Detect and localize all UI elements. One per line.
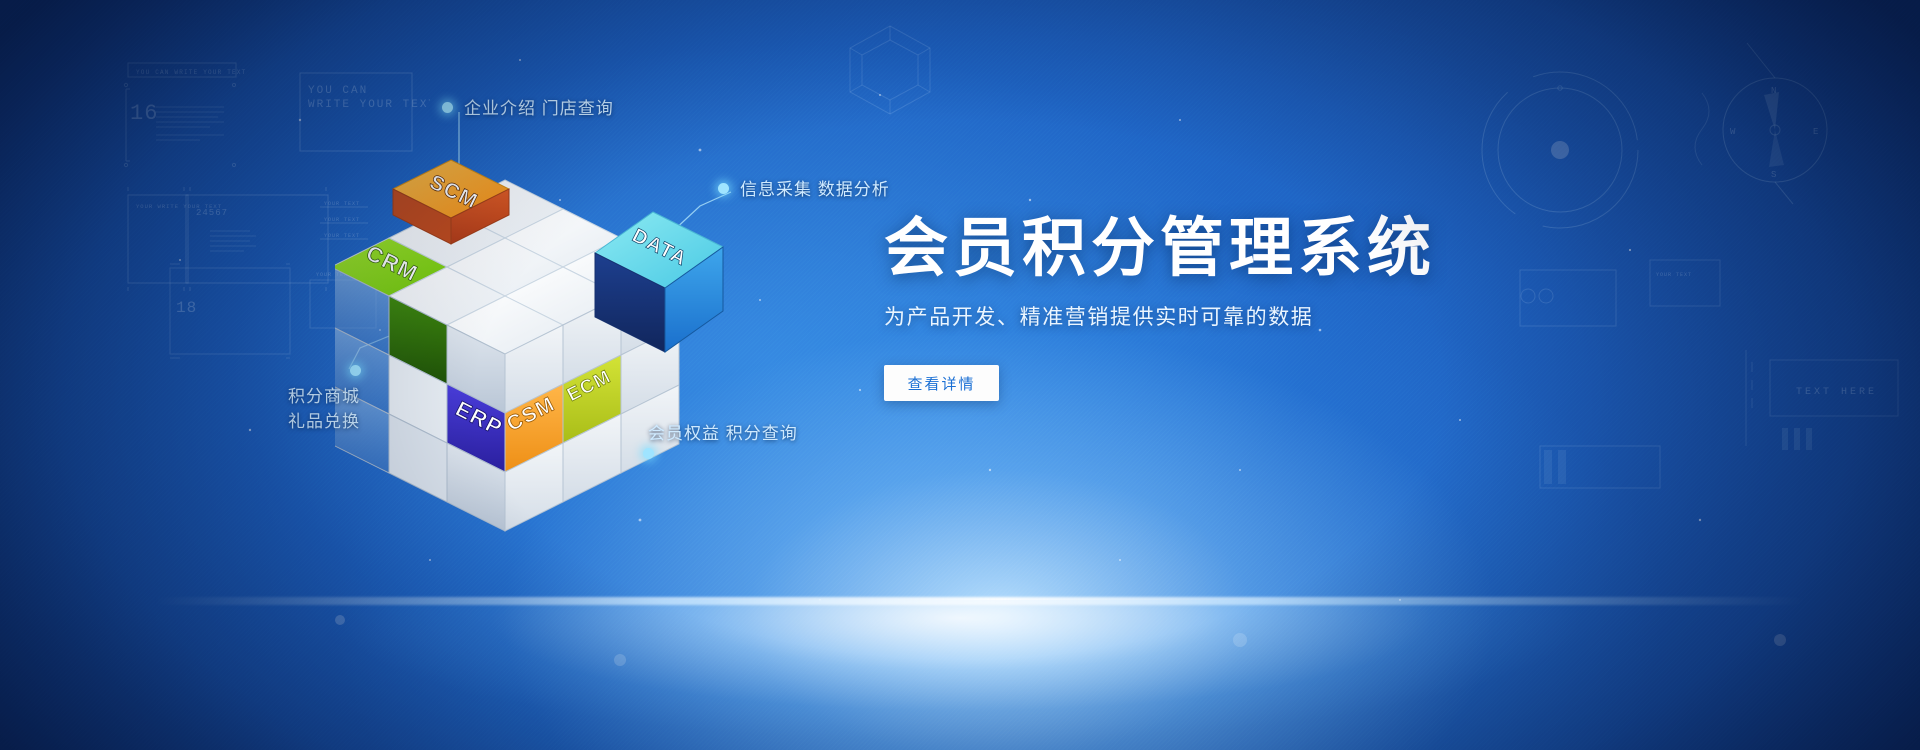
callout-top-label: 企业介绍 门店查询 [464, 99, 614, 118]
callout-left-label-2: 礼品兑换 [288, 410, 360, 435]
svg-text:YOUR WRITE YOUR TEXT: YOUR WRITE YOUR TEXT [136, 203, 222, 210]
page-title: 会员积分管理系统 [884, 214, 1444, 283]
svg-text:YOU CAN: YOU CAN [308, 85, 368, 97]
callout-left-label-1: 积分商城 [288, 385, 360, 410]
hud-decor-rings [1460, 50, 1660, 250]
svg-text:WRITE YOUR TEXT: WRITE YOUR TEXT [308, 99, 430, 111]
svg-text:YOUR TEXT: YOUR TEXT [1656, 272, 1692, 278]
svg-text:E: E [1813, 127, 1818, 137]
floor-reflection [0, 600, 1920, 750]
callout-dot-left [350, 365, 361, 376]
callout-left[interactable]: 积分商城 礼品兑换 [288, 385, 360, 434]
callout-dot-right [718, 183, 729, 194]
svg-text:18: 18 [176, 299, 197, 317]
cube-illustration: SCM DATA CRM ERP CSM ECM [335, 120, 765, 540]
svg-text:YOU CAN WRITE YOUR TEXT: YOU CAN WRITE YOUR TEXT [136, 69, 246, 76]
svg-text:W: W [1730, 127, 1736, 137]
view-details-button[interactable]: 查看详情 [884, 365, 999, 401]
svg-text:24567: 24567 [196, 208, 228, 218]
svg-text:S: S [1771, 170, 1776, 180]
hero-text-block: 会员积分管理系统 为产品开发、精准营销提供实时可靠的数据 查看详情 [884, 214, 1444, 401]
callout-dot-top [442, 102, 453, 113]
hud-compass-icon: NE SW [1680, 35, 1870, 225]
callout-right[interactable]: 信息采集 数据分析 [740, 178, 890, 203]
callout-bottom[interactable]: 会员权益 积分查询 [648, 422, 798, 447]
hud-hexagon-icon [835, 18, 945, 128]
hud-decor-right-panels: TEXT HERE YOUR TEXT [1500, 250, 1920, 550]
callout-top[interactable]: 企业介绍 门店查询 [464, 97, 614, 122]
callout-bottom-label: 会员权益 积分查询 [648, 424, 798, 443]
callout-right-label: 信息采集 数据分析 [740, 180, 890, 199]
svg-text:N: N [1771, 86, 1776, 96]
hero-banner: YOU CAN WRITE YOUR TEXT 16 YOUR WRITE YO… [0, 0, 1920, 750]
svg-text:TEXT HERE: TEXT HERE [1796, 387, 1877, 398]
callout-dot-bottom [643, 448, 654, 459]
page-subtitle: 为产品开发、精准营销提供实时可靠的数据 [884, 301, 1444, 331]
svg-text:16: 16 [130, 101, 158, 126]
